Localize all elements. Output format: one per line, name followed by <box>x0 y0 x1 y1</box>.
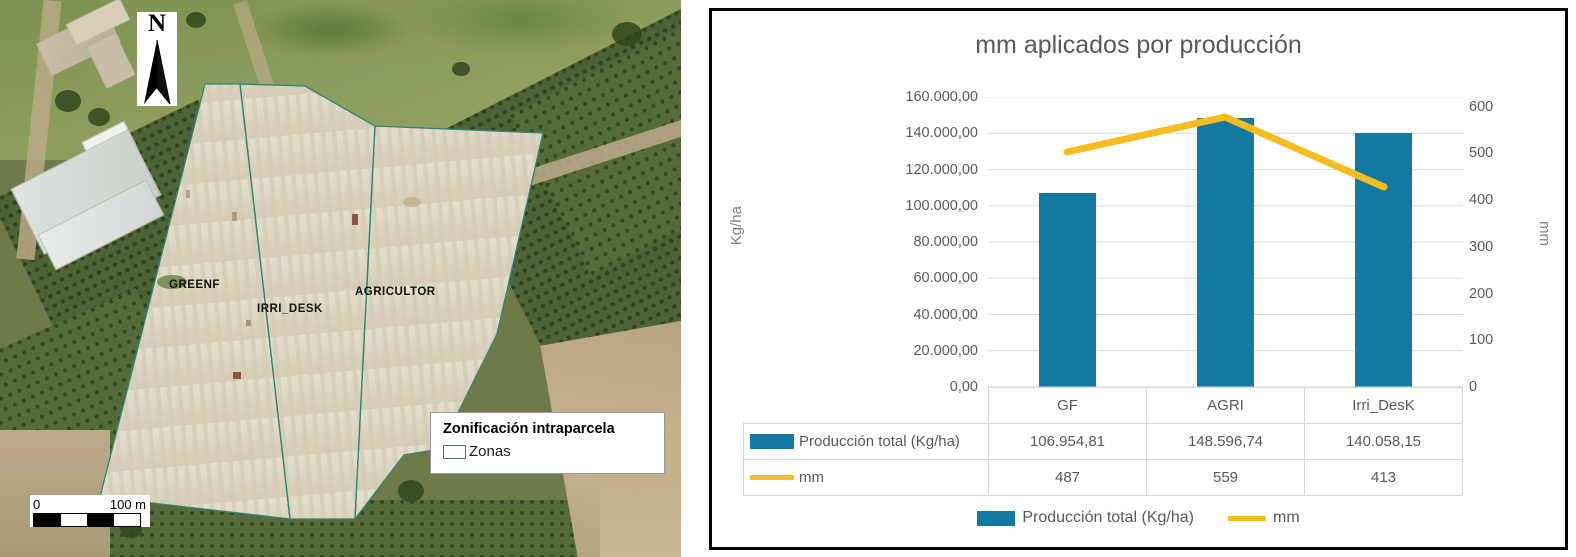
table-row-label: mm <box>799 469 824 486</box>
scalebar: 0 100 m <box>30 495 150 527</box>
bar-series <box>1039 118 1412 387</box>
table-corner-cell <box>744 388 989 424</box>
y-axis-left-tick: 20.000,00 <box>913 343 978 359</box>
bar-agri <box>1197 118 1254 387</box>
table-row: mm 487 559 413 <box>744 460 1463 496</box>
table-cell: 487 <box>989 460 1147 496</box>
scalebar-segment <box>61 514 88 526</box>
scalebar-segment <box>87 514 114 526</box>
legend-item-mm[interactable]: mm <box>1228 509 1300 527</box>
map-legend: Zonificación intraparcela Zonas <box>430 412 665 474</box>
y-axis-right-tick: 600 <box>1469 99 1493 115</box>
y-axis-right-title: mm <box>1536 221 1553 246</box>
scalebar-segments <box>33 513 141 527</box>
y-axis-left-tick: 140.000,00 <box>905 125 978 141</box>
legend-item-produccion[interactable]: Producción total (Kg/ha) <box>977 509 1194 527</box>
y-axis-left-tick: 40.000,00 <box>913 307 978 323</box>
chart-data-table: GF AGRI Irri_DesK Producción total (Kg/h… <box>743 387 1463 496</box>
bar-irri-desk <box>1355 133 1412 387</box>
north-arrow-glyph <box>137 38 177 106</box>
y-axis-left-title: Kg/ha <box>728 206 745 245</box>
y-axis-right-tick: 200 <box>1469 286 1493 302</box>
scalebar-max-label: 100 m <box>110 497 146 512</box>
y-axis-left-tick: 100.000,00 <box>905 198 978 214</box>
table-cell: 140.058,15 <box>1305 424 1463 460</box>
table-row-header-produccion: Producción total (Kg/ha) <box>744 424 989 460</box>
table-header-row: GF AGRI Irri_DesK <box>744 388 1463 424</box>
table-cell: 106.954,81 <box>989 424 1147 460</box>
y-axis-left-tick: 160.000,00 <box>905 89 978 105</box>
chart-title: mm aplicados por producción <box>712 31 1565 60</box>
plot-svg <box>988 97 1463 387</box>
scalebar-segment <box>34 514 61 526</box>
y-axis-right-tick: 100 <box>1469 332 1493 348</box>
table-row-header-mm: mm <box>744 460 989 496</box>
zone-label-irri-desk: IRRI_DESK <box>257 303 323 315</box>
y-axis-right-tick: 500 <box>1469 145 1493 161</box>
scalebar-segment <box>114 514 141 526</box>
bar-gf <box>1039 193 1096 387</box>
zone-label-greenf: GREENF <box>169 279 220 291</box>
table-row-label: Producción total (Kg/ha) <box>799 433 960 450</box>
table-cell: 559 <box>1147 460 1305 496</box>
bar-key-icon <box>750 434 794 449</box>
table-cell: 148.596,74 <box>1147 424 1305 460</box>
y-axis-left-tick: 80.000,00 <box>913 234 978 250</box>
aerial-map-panel[interactable]: GREENF IRRI_DESK AGRICULTOR N 0 100 m <box>0 0 681 557</box>
map-legend-title: Zonificación intraparcela <box>443 421 654 437</box>
map-legend-entry-label: Zonas <box>469 443 511 460</box>
table-col-header-irri-desk: Irri_DesK <box>1305 388 1463 424</box>
zone-label-agricultor: AGRICULTOR <box>355 286 436 298</box>
zonas-swatch-icon <box>443 445 466 459</box>
y-axis-left-tick: 60.000,00 <box>913 270 978 286</box>
screenshot-root: GREENF IRRI_DESK AGRICULTOR N 0 100 m <box>0 0 1576 557</box>
line-key-icon <box>750 475 794 480</box>
legend-label: Producción total (Kg/ha) <box>1022 509 1194 527</box>
y-axis-left-ticks: 160.000,00 140.000,00 120.000,00 100.000… <box>868 97 978 387</box>
y-axis-right-tick: 300 <box>1469 239 1493 255</box>
legend-line-icon <box>1228 516 1266 521</box>
north-arrow-label: N <box>137 10 177 38</box>
legend-bar-icon <box>977 511 1015 526</box>
plot-area[interactable] <box>988 97 1463 387</box>
north-arrow-icon: N <box>137 12 177 106</box>
table-cell: 413 <box>1305 460 1463 496</box>
chart-panel[interactable]: mm aplicados por producción Kg/ha mm 160… <box>709 8 1568 550</box>
scalebar-min-label: 0 <box>33 497 40 512</box>
map-legend-entry-zonas: Zonas <box>443 443 654 460</box>
y-axis-right-tick: 400 <box>1469 192 1493 208</box>
legend-label: mm <box>1273 509 1300 527</box>
table-row: Producción total (Kg/ha) 106.954,81 148.… <box>744 424 1463 460</box>
chart-legend: Producción total (Kg/ha) mm <box>712 509 1565 527</box>
y-axis-left-tick: 120.000,00 <box>905 162 978 178</box>
table-col-header-agri: AGRI <box>1147 388 1305 424</box>
y-axis-right-ticks: 600 500 400 300 200 100 0 <box>1469 97 1529 387</box>
table-col-header-gf: GF <box>989 388 1147 424</box>
y-axis-right-tick: 0 <box>1469 379 1477 395</box>
